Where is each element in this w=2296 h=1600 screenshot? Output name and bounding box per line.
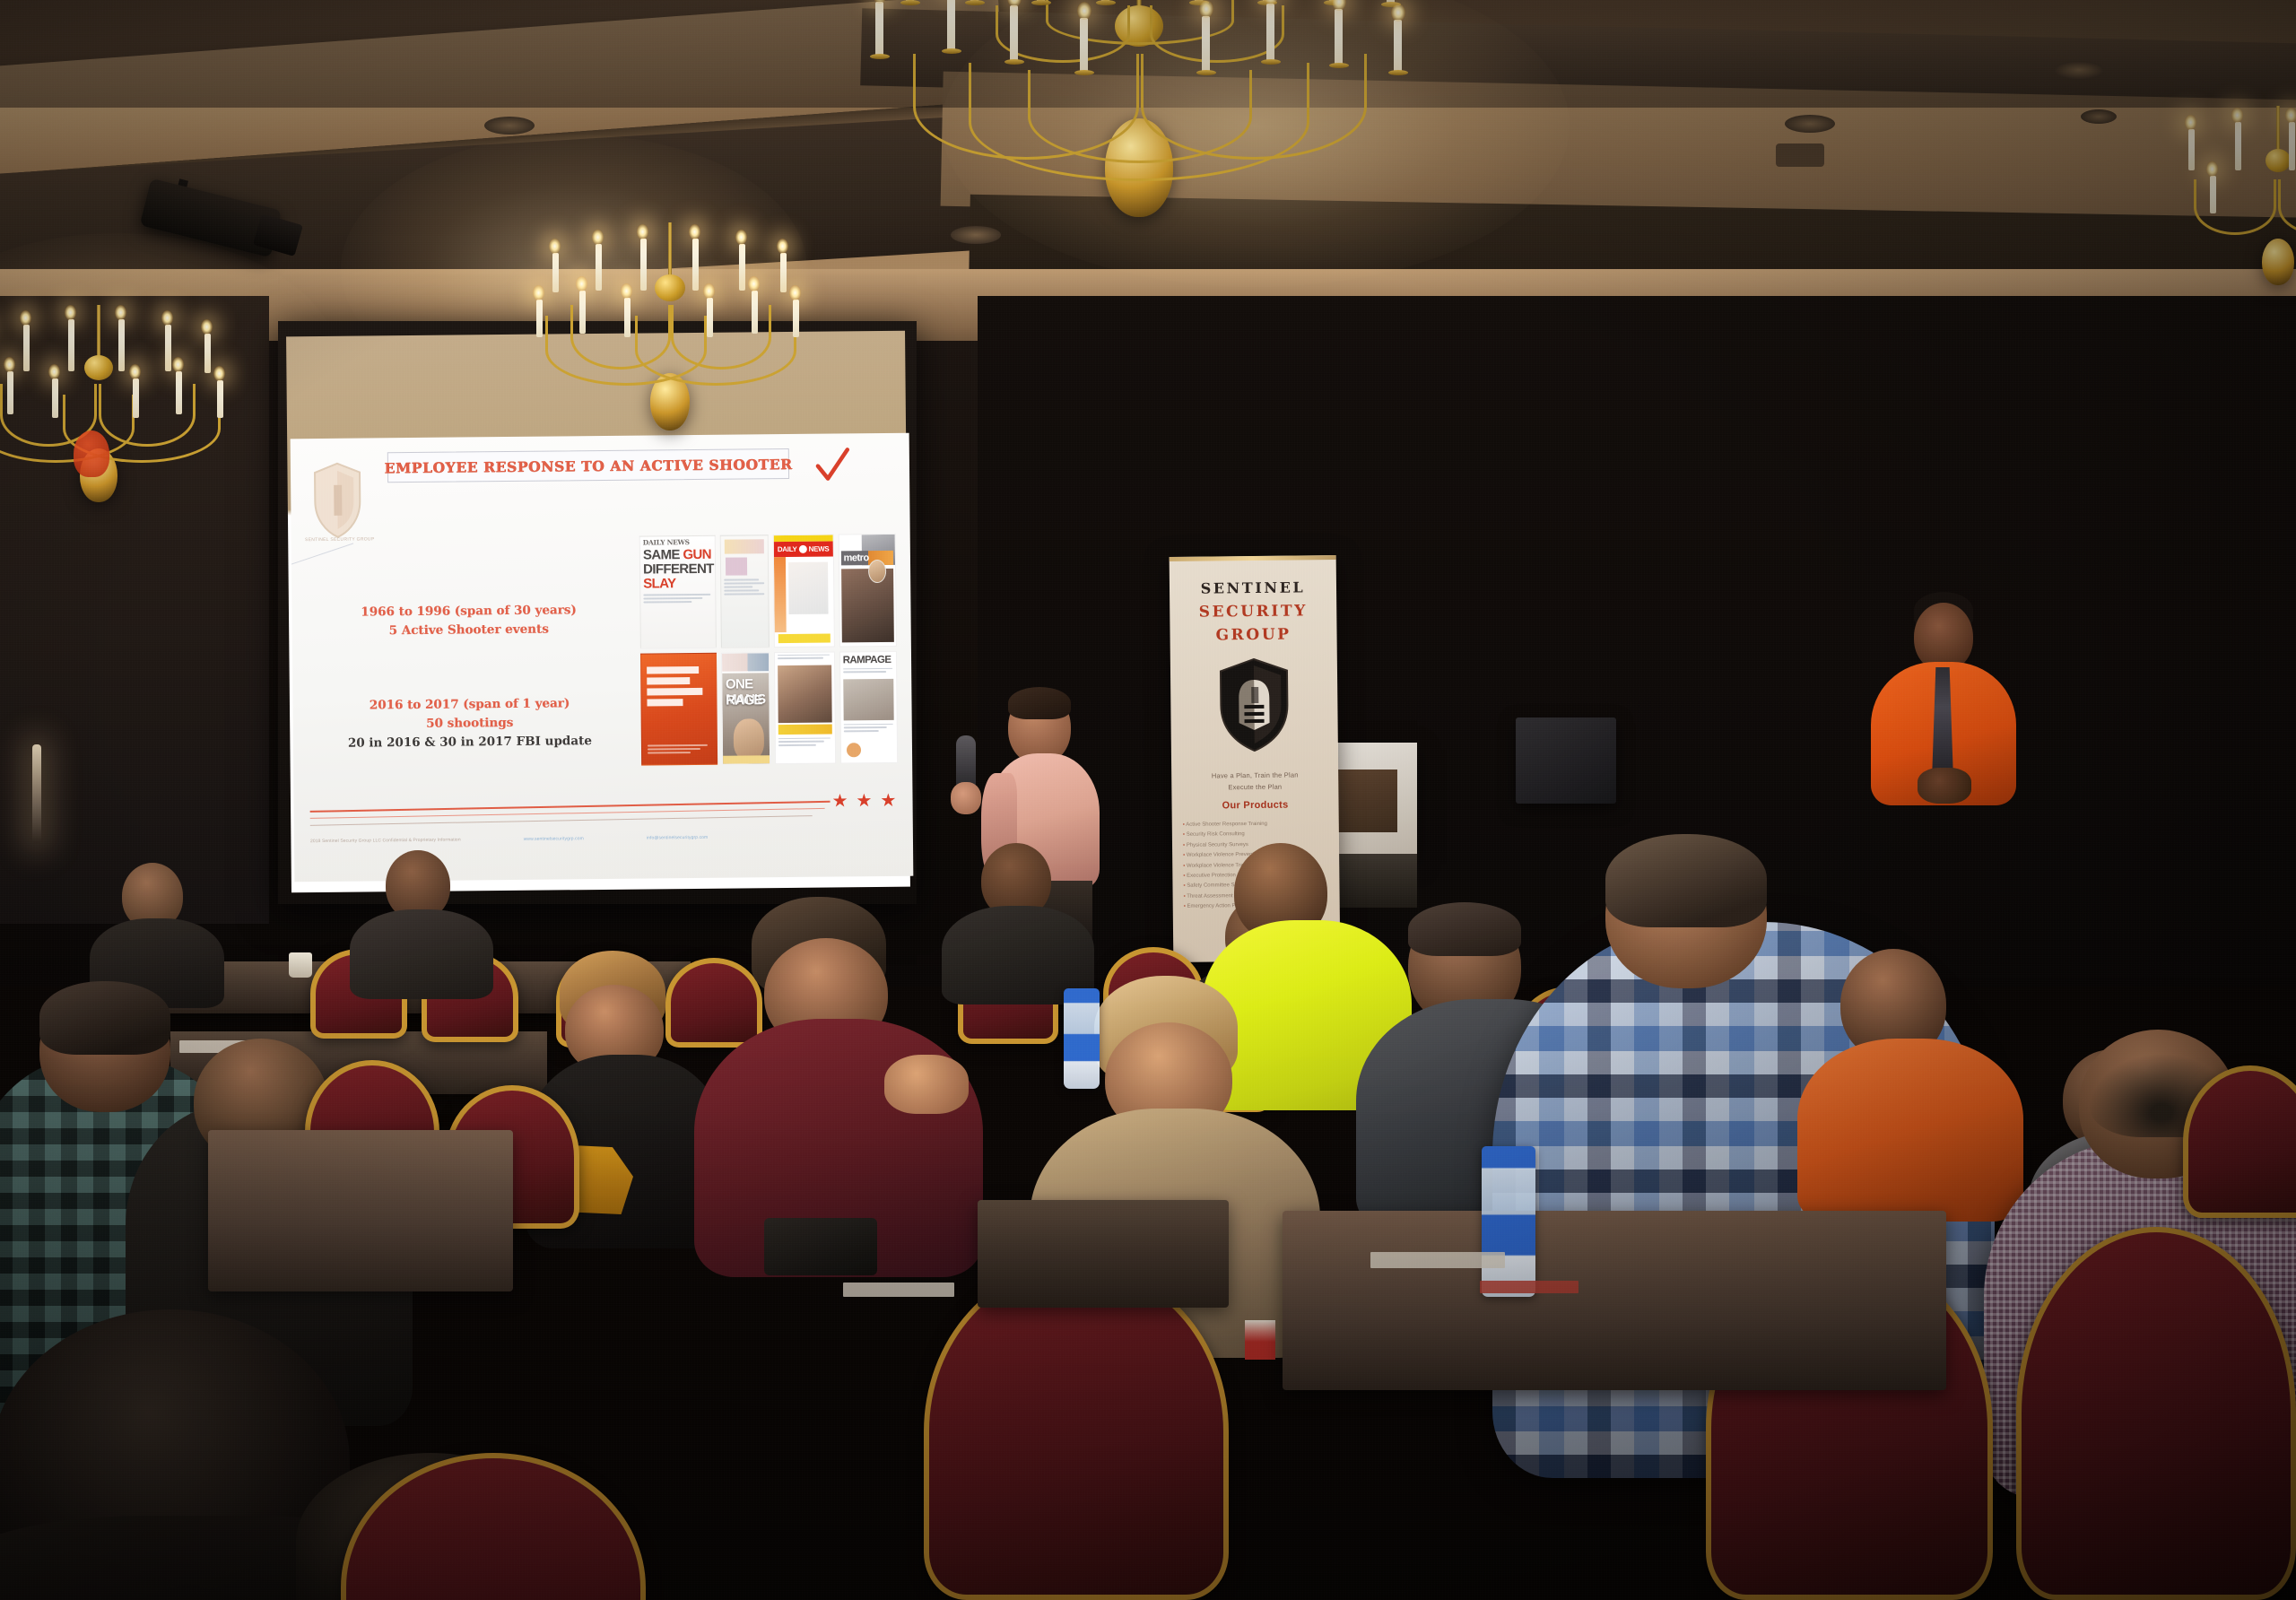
stat-line: 20 in 2016 & 30 in 2017 FBI update <box>313 732 627 753</box>
banquet-table <box>208 1130 513 1291</box>
banner-top-rail <box>1170 555 1336 561</box>
orange-shirt-man-hands <box>1918 768 1971 804</box>
presenter-hand <box>951 782 981 814</box>
coffee-cup <box>289 952 312 978</box>
recessed-downlight <box>2054 61 2104 79</box>
newspaper-headline-line: SAME GUN <box>643 548 711 562</box>
newspaper-masthead: DAILY NEWS <box>643 538 712 547</box>
banner-line-group: GROUP <box>1170 625 1336 645</box>
footer-website-url: www.sentinelsecuritygrp.com <box>524 836 584 842</box>
slide-star-group: ★ ★ ★ <box>831 792 896 811</box>
paper-handout <box>1480 1281 1578 1293</box>
newspaper-clipping: DAILY NEWS <box>773 535 835 648</box>
newspaper-clipping <box>640 652 717 765</box>
star-icon: ★ <box>856 792 872 810</box>
star-icon: ★ <box>880 792 896 810</box>
presenter-hair <box>1008 687 1071 719</box>
banner-tagline: Have a Plan, Train the Plan Execute the … <box>1171 769 1338 794</box>
paper-handout <box>843 1283 954 1297</box>
newspaper-clipping: metro <box>838 534 897 647</box>
newspaper-masthead: DAILY NEWS <box>774 542 833 558</box>
star-icon: ★ <box>831 792 848 810</box>
newspaper-headline-line: RAGE <box>726 692 762 708</box>
check-mark-icon <box>813 446 851 485</box>
chandelier-center <box>861 0 1417 242</box>
knight-helmet-shield-icon <box>1217 657 1291 754</box>
attendee-dark-jacket <box>90 863 224 997</box>
banquet-chair <box>2016 1227 2296 1600</box>
attendee-hair <box>1408 902 1521 956</box>
masthead-word: DAILY <box>778 545 797 553</box>
chandelier-far-left <box>0 305 233 529</box>
lanyard-badge <box>1245 1320 1275 1360</box>
newspaper-clipping <box>774 651 836 764</box>
water-bottle <box>1482 1146 1535 1297</box>
water-bottle <box>1064 988 1100 1089</box>
slide-logo-subtext: SENTINEL SECURITY GROUP <box>297 536 383 543</box>
banner-tagline-line: Execute the Plan <box>1171 780 1338 794</box>
banquet-chair <box>924 1263 1229 1600</box>
orange-shirt <box>1797 1039 2023 1222</box>
clasped-hands <box>884 1055 969 1114</box>
belt-pouch <box>764 1218 877 1275</box>
man-in-orange-shirt <box>1867 592 2020 816</box>
recessed-downlight <box>1785 115 1835 133</box>
masthead-word: NEWS <box>809 545 830 553</box>
recessed-downlight <box>484 117 535 135</box>
orange-shirt-man-head <box>1914 603 1973 671</box>
banner-line-security: SECURITY <box>1170 602 1336 622</box>
attendee-maroon-sweater <box>694 897 999 1274</box>
newspaper-body-text <box>643 594 712 605</box>
headline-word: SAME <box>643 547 680 562</box>
newspaper-clipping: RAMPAGE <box>839 650 899 763</box>
attendee-hair <box>39 981 170 1055</box>
newspaper-headline-line: SLAY <box>643 577 675 590</box>
pa-speaker <box>1516 717 1616 804</box>
statistic-block-2: 2016 to 2017 (span of 1 year) 50 shootin… <box>312 694 627 753</box>
banner-products-heading: Our Products <box>1171 799 1338 812</box>
footer-email: info@sentinelsecuritygrp.com <box>647 835 709 841</box>
slide-footer-rule <box>310 801 831 813</box>
slide-footer: 2018 Sentinel Security Group LLC Confide… <box>310 833 904 844</box>
statistic-block-1: 1966 to 1996 (span of 30 years) 5 Active… <box>311 601 625 641</box>
attendee-orange-shirt <box>1797 949 2031 1218</box>
presentation-slide: SENTINEL SECURITY GROUP EMPLOYEE RESPONS… <box>291 433 914 883</box>
newspaper-clipping: ONE MAN'S RAGE <box>721 652 770 765</box>
conference-room-photo: SENTINEL SECURITY GROUP EMPLOYEE RESPONS… <box>0 0 2296 1600</box>
ceiling-speaker <box>2081 109 2117 124</box>
wall-sconce-light <box>32 744 41 843</box>
newspaper-collage: DAILY NEWS SAME GUN DIFFERENT SLAY <box>639 534 898 766</box>
newspaper-clipping <box>719 535 769 648</box>
attendee-hair <box>1605 834 1767 927</box>
chandelier-over-screen <box>531 222 809 465</box>
attendee-dark-jacket <box>350 850 493 985</box>
newspaper-masthead: metro <box>841 552 869 563</box>
headline-word-red: GUN <box>683 547 711 562</box>
newspaper-clipping: DAILY NEWS SAME GUN DIFFERENT SLAY <box>639 535 717 648</box>
paper-handout <box>1370 1252 1505 1268</box>
air-vent <box>1776 143 1824 167</box>
banquet-table <box>978 1200 1229 1308</box>
stat-line: 5 Active Shooter events <box>312 620 626 641</box>
chandelier-far-right <box>2179 106 2296 321</box>
banner-line-sentinel: SENTINEL <box>1170 578 1336 597</box>
footer-copyright: 2018 Sentinel Security Group LLC Confide… <box>310 838 461 845</box>
banquet-table <box>1283 1211 1946 1390</box>
newspaper-headline-line: DIFFERENT <box>643 562 714 577</box>
newspaper-masthead: RAMPAGE <box>843 654 891 665</box>
newspaper-body-text <box>724 578 765 596</box>
